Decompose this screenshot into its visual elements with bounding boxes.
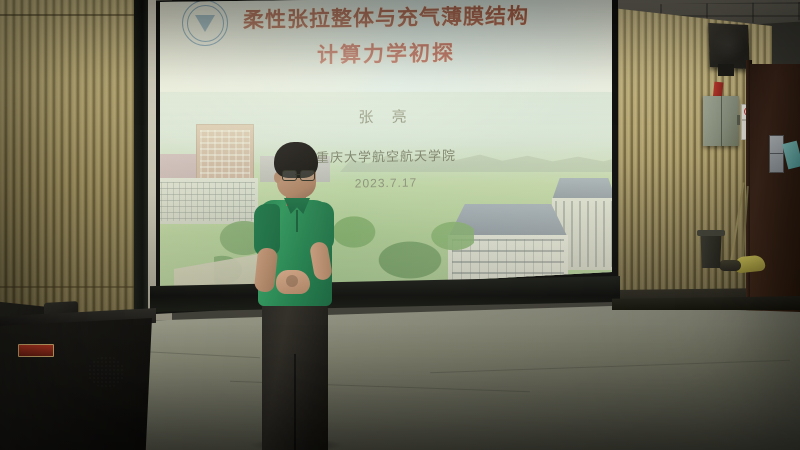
presenter-hands xyxy=(276,270,310,294)
glasses-right-lens xyxy=(300,170,315,181)
cabinet-door-seam xyxy=(721,96,722,146)
door-window xyxy=(769,135,784,173)
glasses-left-lens xyxy=(282,170,297,181)
trash-bin[interactable] xyxy=(699,234,723,268)
wall-speaker xyxy=(708,23,750,69)
room-door[interactable] xyxy=(750,64,800,312)
presenter xyxy=(236,142,348,450)
podium[interactable] xyxy=(0,318,152,450)
left-wall-seam xyxy=(0,286,134,288)
podium-speaker-grille xyxy=(88,356,124,388)
podium-badge xyxy=(18,344,54,357)
presenter-placket xyxy=(296,210,298,232)
cabinet-latch[interactable] xyxy=(737,115,740,125)
screen-left-border xyxy=(134,0,148,330)
projection-screen: 柔性张拉整体与充气薄膜结构 计算力学初探 张 亮 重庆大学航空航天学院 2023… xyxy=(160,0,612,296)
broom-head xyxy=(719,260,741,271)
lecture-hall-photo: 柔性张拉整体与充气薄膜结构 计算力学初探 张 亮 重庆大学航空航天学院 2023… xyxy=(0,0,800,450)
speaker-mount xyxy=(718,64,734,76)
trash-bin-lid[interactable] xyxy=(697,230,725,236)
trouser-seam xyxy=(294,354,296,450)
left-wall-seam xyxy=(0,14,134,16)
presenter-glasses xyxy=(282,170,316,179)
left-wall-shading xyxy=(0,0,134,330)
